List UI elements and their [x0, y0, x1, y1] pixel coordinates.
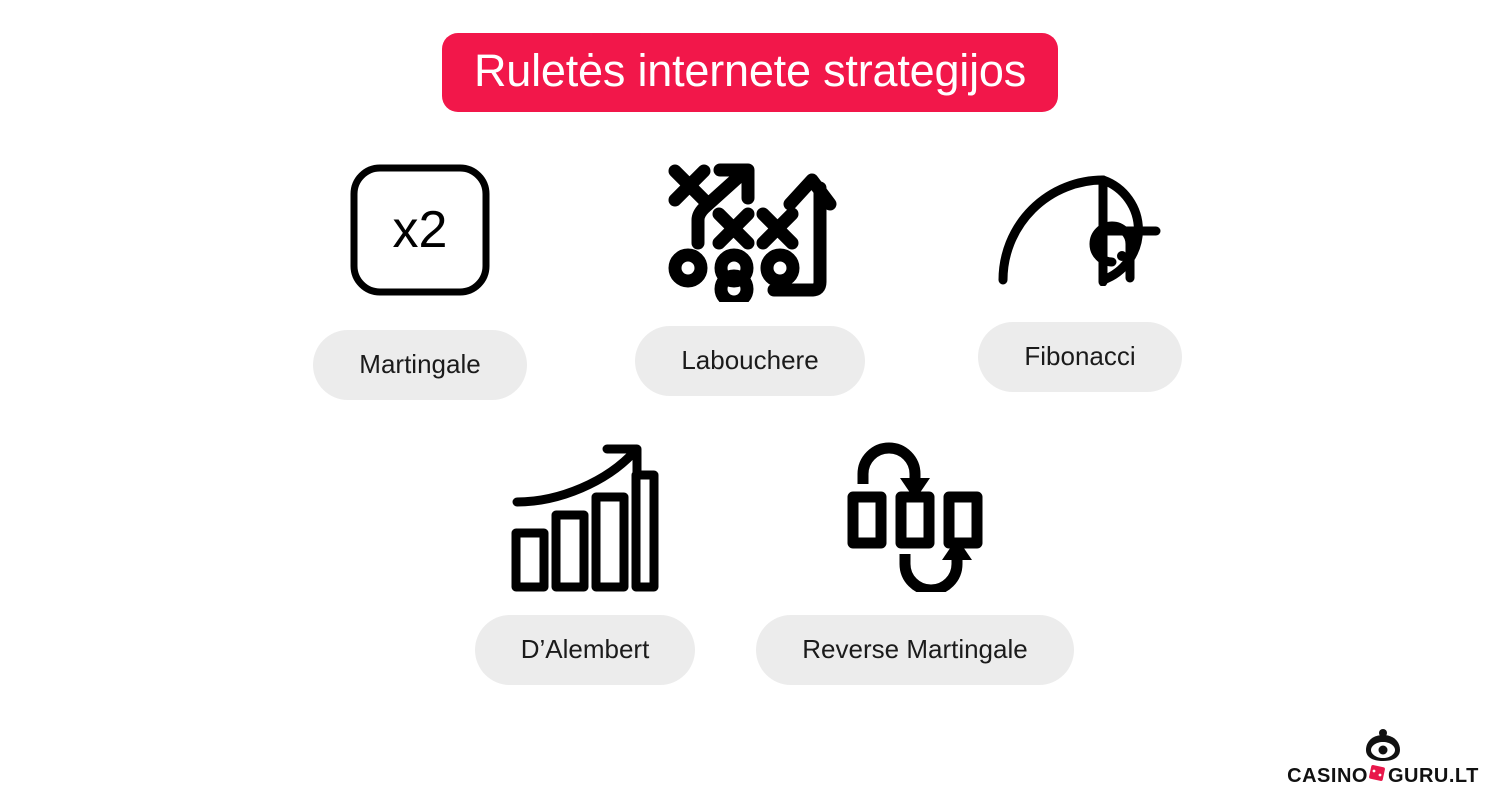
- logo-dice-icon: [1368, 764, 1388, 788]
- growth-bar-chart-icon: [511, 437, 659, 597]
- logo-text-guru: GURU.LT: [1388, 765, 1479, 788]
- strategy-card-fibonacci[interactable]: Fibonacci: [915, 150, 1245, 400]
- strategy-label-fibonacci: Fibonacci: [978, 322, 1181, 392]
- strategy-label-labouchere: Labouchere: [635, 326, 864, 396]
- playbook-strategy-icon: [662, 150, 838, 310]
- x2-box-icon: x2: [349, 150, 491, 310]
- infographic-canvas: Ruletės internete strategijos x2 Marting…: [0, 0, 1500, 800]
- strategy-row-top: x2 Martingale: [0, 150, 1500, 400]
- strategy-label-martingale: Martingale: [313, 330, 526, 400]
- logo-wordmark: CASINO GURU.LT: [1287, 764, 1479, 788]
- strategy-card-labouchere[interactable]: Labouchere: [585, 150, 915, 400]
- guru-head-icon: [1363, 729, 1403, 768]
- title-container: Ruletės internete strategijos: [0, 33, 1500, 112]
- logo-text-casino: CASINO: [1287, 765, 1368, 788]
- strategy-row-bottom: D’Alembert: [0, 437, 1500, 685]
- svg-text:x2: x2: [393, 201, 448, 259]
- golden-spiral-icon: [997, 150, 1163, 310]
- strategy-card-martingale[interactable]: x2 Martingale: [255, 150, 585, 400]
- strategy-card-reverse-martingale[interactable]: Reverse Martingale: [750, 437, 1080, 685]
- reverse-cycle-bars-icon: [845, 437, 985, 597]
- page-title: Ruletės internete strategijos: [442, 33, 1058, 112]
- strategy-label-dalembert: D’Alembert: [475, 615, 696, 685]
- strategy-card-dalembert[interactable]: D’Alembert: [420, 437, 750, 685]
- casino-guru-logo[interactable]: CASINO GURU.LT: [1288, 729, 1478, 788]
- strategy-label-reverse-martingale: Reverse Martingale: [756, 615, 1073, 685]
